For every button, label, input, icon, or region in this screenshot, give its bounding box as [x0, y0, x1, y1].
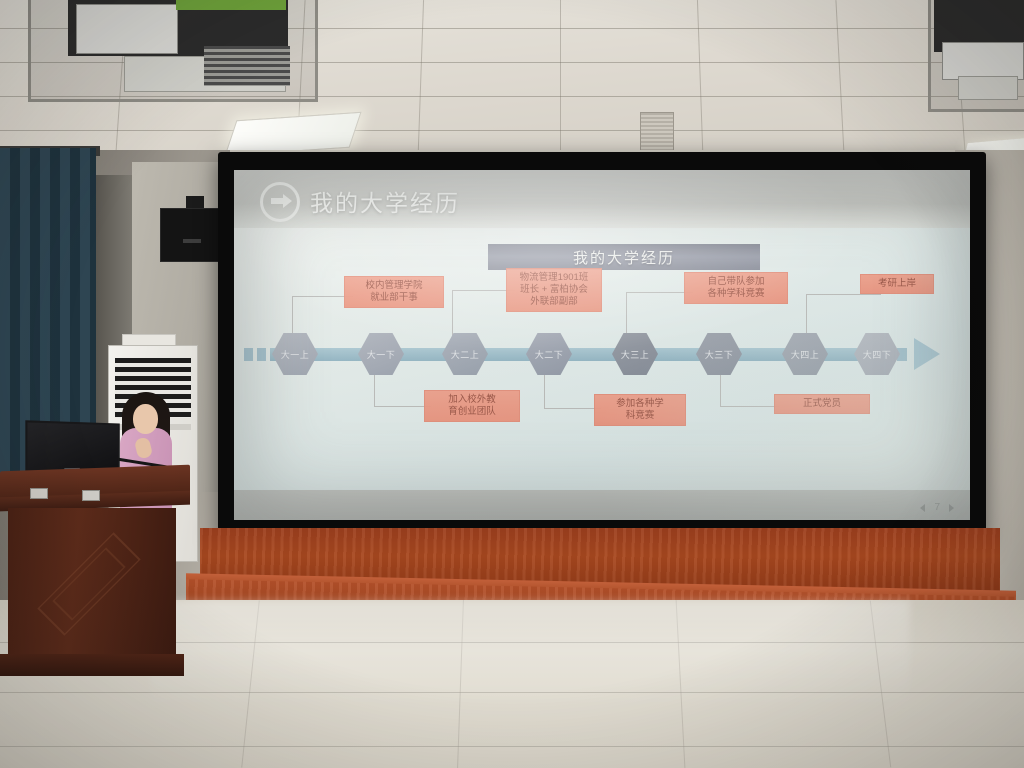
ceiling-vent — [640, 112, 674, 152]
floor-reflection — [150, 600, 910, 710]
projection-screen-frame: 我的大学经历 我的大学经历 — [218, 152, 986, 540]
ceiling-projector-right — [928, 0, 1024, 112]
slide-page-number: 7 — [934, 502, 940, 513]
podium-control-plate-2[interactable] — [82, 490, 100, 501]
timeline-node-2-label: 大一下 — [367, 348, 396, 361]
presenter-face — [133, 404, 158, 434]
triangle-right-icon[interactable] — [949, 504, 954, 512]
timeline-label-top-2[interactable]: 物流管理1901班 班长 + 富柏协会 外联部副部 — [506, 268, 602, 312]
slide-footer-band: 7 — [234, 490, 970, 520]
timeline-label-top-4[interactable]: 考研上岸 — [860, 274, 934, 294]
timeline-label-top-1[interactable]: 校内管理学院 就业部干事 — [344, 276, 444, 308]
podium-control-plate-1[interactable] — [30, 488, 48, 499]
speaker-mount — [186, 196, 204, 208]
timeline-node-8-label: 大四下 — [863, 348, 892, 361]
projection-screen-surface[interactable]: 我的大学经历 我的大学经历 — [234, 170, 970, 520]
presentation-slide: 我的大学经历 我的大学经历 — [234, 170, 970, 520]
slide-body: 我的大学经历 — [234, 228, 970, 490]
slide-title-banner: 我的大学经历 — [488, 244, 760, 270]
timeline-node-4-label: 大二下 — [535, 348, 564, 361]
timeline-node-6-label: 大三下 — [705, 348, 734, 361]
timeline-node-1-label: 大一上 — [281, 348, 310, 361]
slide-header-band: 我的大学经历 — [234, 170, 970, 228]
classroom-photo: 我的大学经历 我的大学经历 — [0, 0, 1024, 768]
slide-title-banner-text: 我的大学经历 — [573, 247, 675, 268]
timeline-label-bottom-3[interactable]: 正式党员 — [774, 394, 870, 414]
wall-speaker — [160, 208, 222, 262]
triangle-left-icon[interactable] — [920, 504, 925, 512]
timeline-label-bottom-1[interactable]: 加入校外教 育创业团队 — [424, 390, 520, 422]
ceiling-projector-left — [28, 0, 318, 102]
timeline-label-top-3[interactable]: 自己带队参加 各种学科竞赛 — [684, 272, 788, 304]
podium — [0, 468, 190, 678]
circle-arrow-right-icon — [260, 182, 300, 222]
timeline-arrow-end — [914, 338, 940, 370]
timeline-label-bottom-2[interactable]: 参加各种学 科竞赛 — [594, 394, 686, 426]
slide-navigation[interactable]: 7 — [920, 502, 954, 513]
slide-header-title: 我的大学经历 — [310, 184, 460, 218]
timeline-node-3-label: 大二上 — [451, 348, 480, 361]
timeline-node-5-label: 大三上 — [621, 348, 650, 361]
timeline-node-7-label: 大四上 — [791, 348, 820, 361]
